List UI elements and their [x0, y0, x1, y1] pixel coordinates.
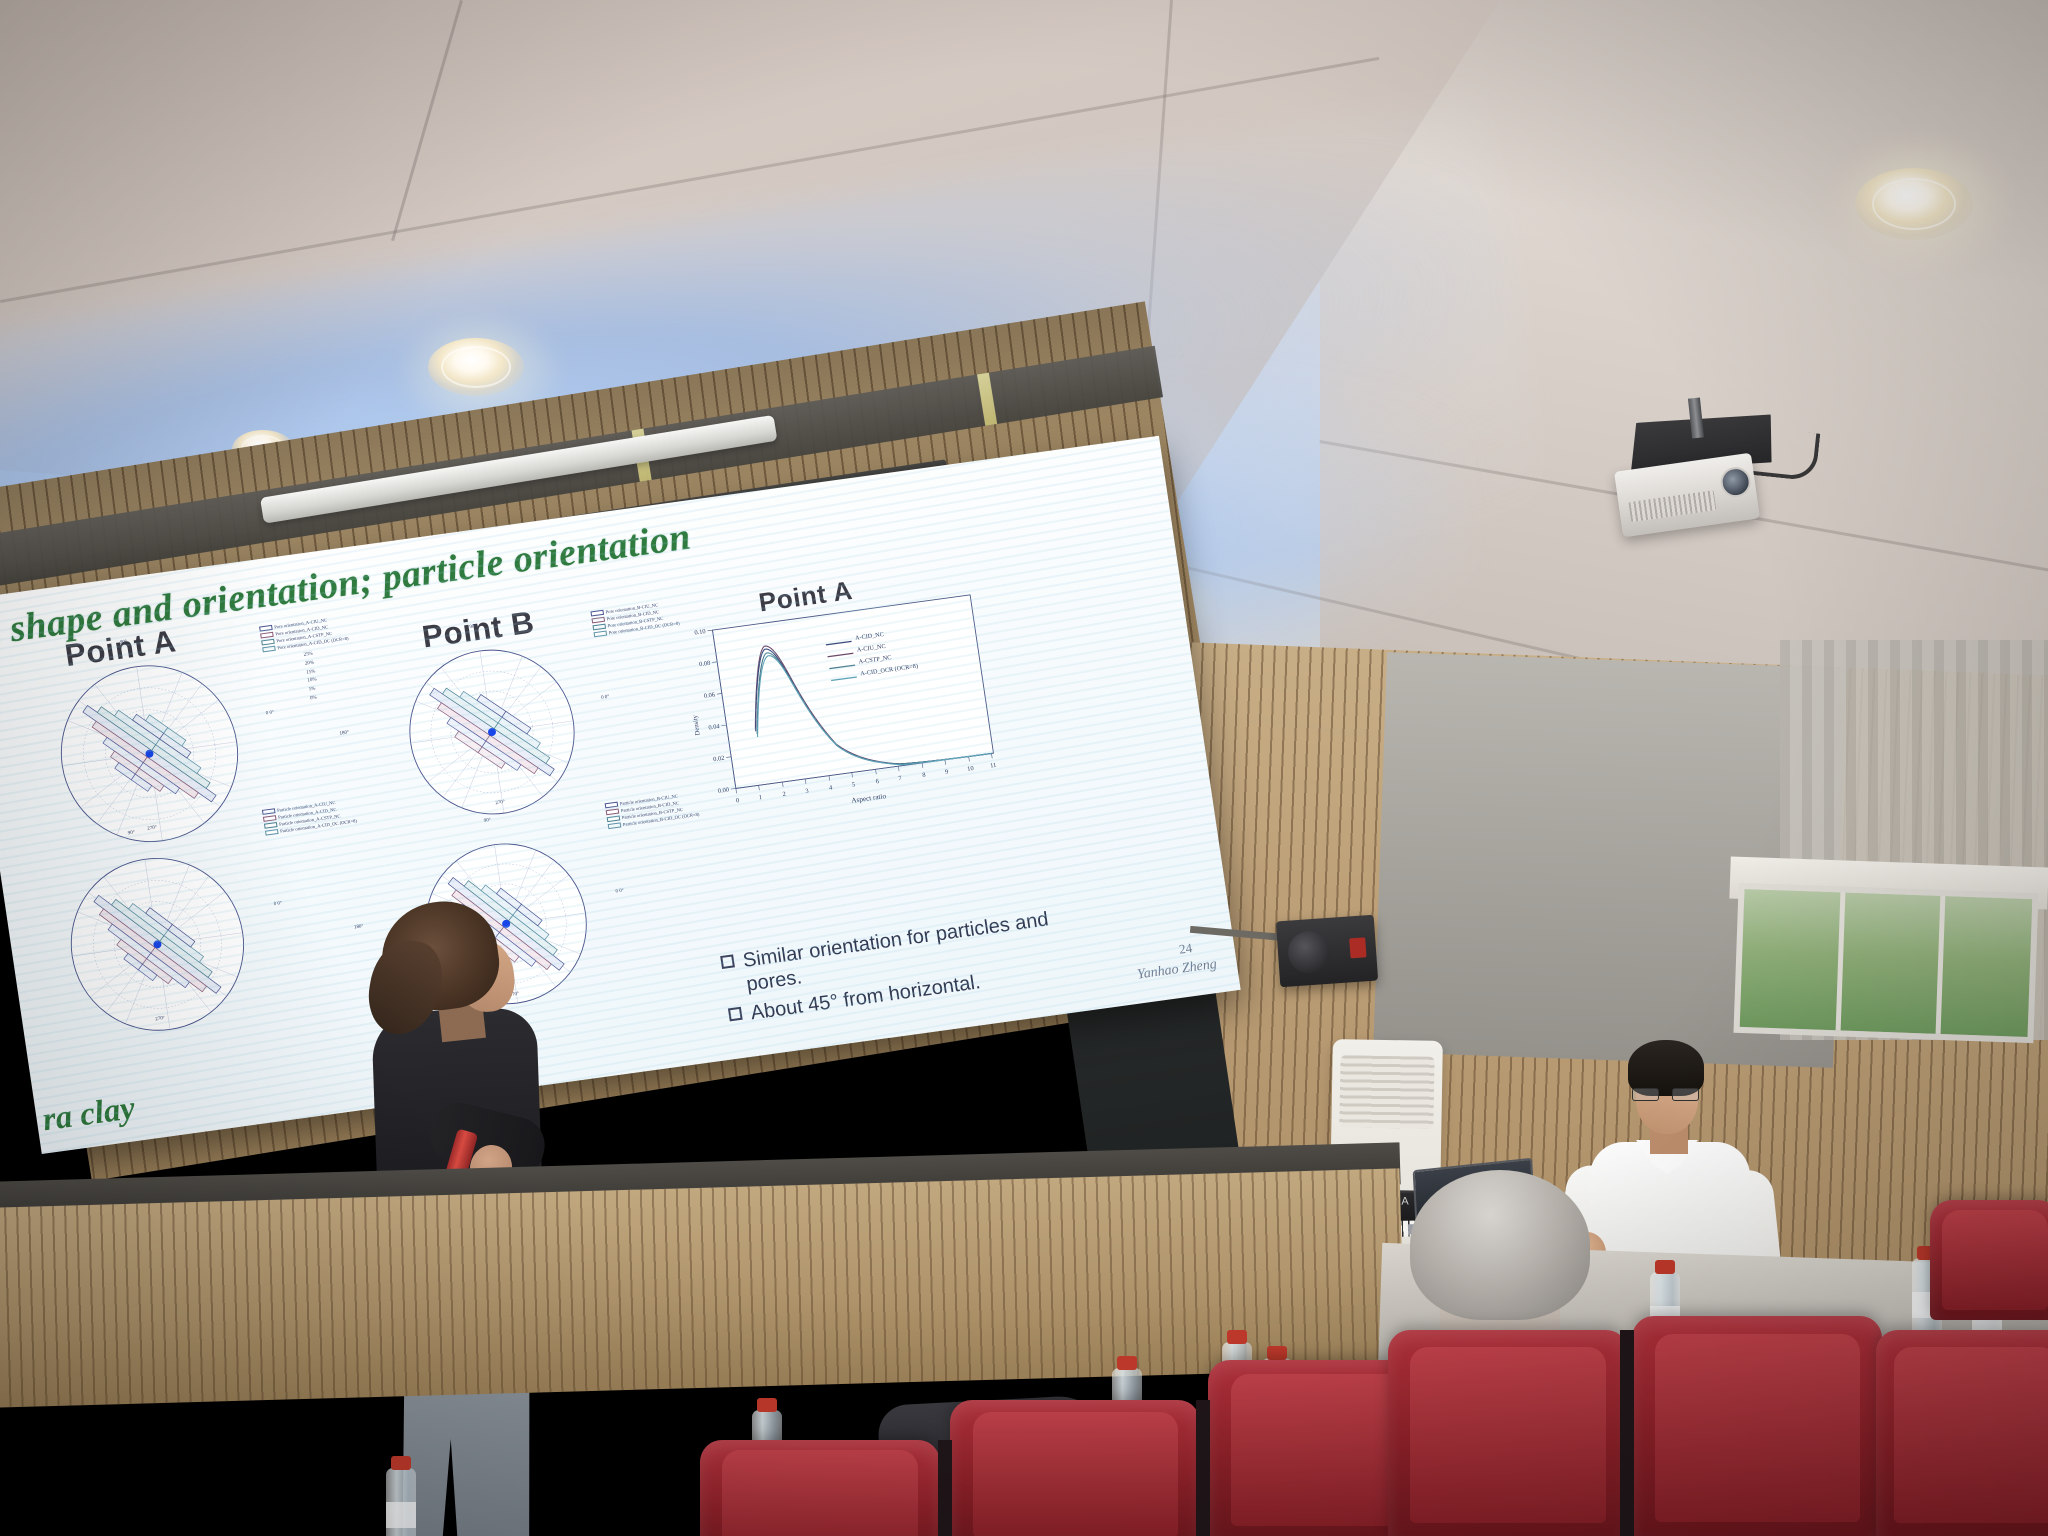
glasses-lens	[1632, 1088, 1659, 1101]
checkbox-bullet-icon	[720, 954, 735, 969]
svg-text:0.08: 0.08	[699, 660, 711, 668]
svg-text:2: 2	[782, 791, 786, 798]
speaker-indicator	[1349, 937, 1366, 958]
auditorium-seat[interactable]	[1632, 1316, 1882, 1536]
slide-author-name: Yanhao Zheng	[1136, 957, 1218, 984]
auditorium-seat[interactable]	[700, 1440, 940, 1536]
seat-divider	[1620, 1330, 1634, 1536]
ac-grill	[1339, 1055, 1434, 1129]
density-chart-point-a: 0.000.02 0.040.06 0.080.10 012	[672, 583, 1030, 836]
svg-text:0.04: 0.04	[708, 723, 721, 732]
svg-text:6: 6	[875, 778, 879, 785]
auditorium-seat[interactable]	[1876, 1330, 2048, 1536]
rose-a-bottom-angle-90: 90°	[128, 830, 136, 836]
svg-text:Aspect ratio: Aspect ratio	[851, 792, 887, 805]
svg-text:8: 8	[922, 772, 926, 779]
seat-divider	[1196, 1400, 1210, 1536]
audience-head	[1410, 1170, 1590, 1320]
window	[1733, 883, 2038, 1043]
window-mullion	[1936, 896, 1946, 1034]
slide-bullet-list: Similar orientation for particles and po…	[720, 907, 1059, 1032]
bottle-cap	[1227, 1330, 1247, 1344]
lecture-hall-photo: e shape and orientation; particle orient…	[0, 0, 2048, 1536]
checkbox-bullet-icon	[728, 1007, 743, 1022]
radial-scale: 25% 20% 15% 10% 5% 0%	[303, 651, 320, 704]
svg-text:0: 0	[736, 797, 740, 804]
water-bottle[interactable]	[386, 1468, 416, 1536]
bottle-cap	[757, 1398, 777, 1412]
legend-swatch	[262, 646, 276, 653]
rose-b-top-angle-90: 90°	[469, 624, 477, 630]
rose-b-bottom-angle-180: 180°	[354, 924, 364, 930]
downlight[interactable]	[428, 338, 524, 396]
stage-front-panel	[0, 1168, 1405, 1408]
window-mullion	[1836, 892, 1846, 1030]
wall-accent-light	[977, 373, 997, 426]
svg-text:1: 1	[758, 794, 762, 801]
svg-text:9: 9	[945, 768, 949, 775]
legend-swatch	[265, 829, 279, 836]
density-chart-legend: A-CID_NC A-CIU_NC A-CSTP_NC A-CID_OCR (O…	[854, 625, 918, 680]
svg-text:Density: Density	[692, 714, 702, 736]
auditorium-seat[interactable]	[1930, 1200, 2048, 1320]
rose-b-top-angle-180: 180°	[339, 730, 349, 736]
wall-speaker	[1276, 915, 1378, 988]
seat-divider	[938, 1440, 952, 1536]
svg-text:3: 3	[805, 788, 809, 795]
svg-text:0.06: 0.06	[703, 691, 715, 699]
svg-text:11: 11	[990, 762, 997, 770]
svg-text:5: 5	[852, 781, 856, 788]
rose-a-bottom-angle-180: 180°	[0, 939, 6, 945]
svg-text:0.02: 0.02	[713, 755, 725, 763]
rose-diagram-point-b-top	[354, 621, 629, 843]
projector-lens	[1719, 465, 1753, 499]
slide-bottom-label: ra clay	[40, 1090, 137, 1139]
rose-b-bottom-angle-90: 90°	[484, 818, 492, 824]
svg-text:4: 4	[829, 784, 834, 791]
radial-tick: 0%	[310, 694, 320, 704]
rose-a-top-legend: Pore orientation_A-CIU_NC Pore orientati…	[259, 614, 349, 654]
bottle-cap	[391, 1456, 411, 1470]
legend-swatch	[608, 823, 622, 830]
svg-text:7: 7	[898, 775, 903, 782]
bottle-label	[386, 1502, 416, 1528]
speaker-cone-icon	[1287, 930, 1332, 975]
projector-vent	[1628, 490, 1716, 522]
auditorium-seat[interactable]	[950, 1400, 1200, 1536]
rose-b-top-legend: Pore orientation_B-CIU_NC Pore orientati…	[590, 599, 680, 639]
downlight[interactable]	[1855, 168, 1973, 240]
rose-a-top-angle-90: 90°	[120, 640, 128, 646]
rose-diagram-point-a-bottom	[9, 827, 306, 1061]
svg-text:0.10: 0.10	[694, 628, 706, 636]
slide-page-number: 24	[1178, 940, 1193, 958]
auditorium-seat[interactable]	[1388, 1330, 1628, 1536]
svg-text:10: 10	[967, 765, 974, 773]
bottle-cap	[1267, 1346, 1287, 1360]
legend-swatch	[594, 631, 608, 638]
svg-text:0.00: 0.00	[717, 786, 729, 794]
bottle-cap	[1117, 1356, 1137, 1370]
bottle-cap	[1655, 1260, 1675, 1274]
glasses-lens	[1672, 1088, 1699, 1101]
presenter-right-glasses	[1632, 1088, 1704, 1101]
